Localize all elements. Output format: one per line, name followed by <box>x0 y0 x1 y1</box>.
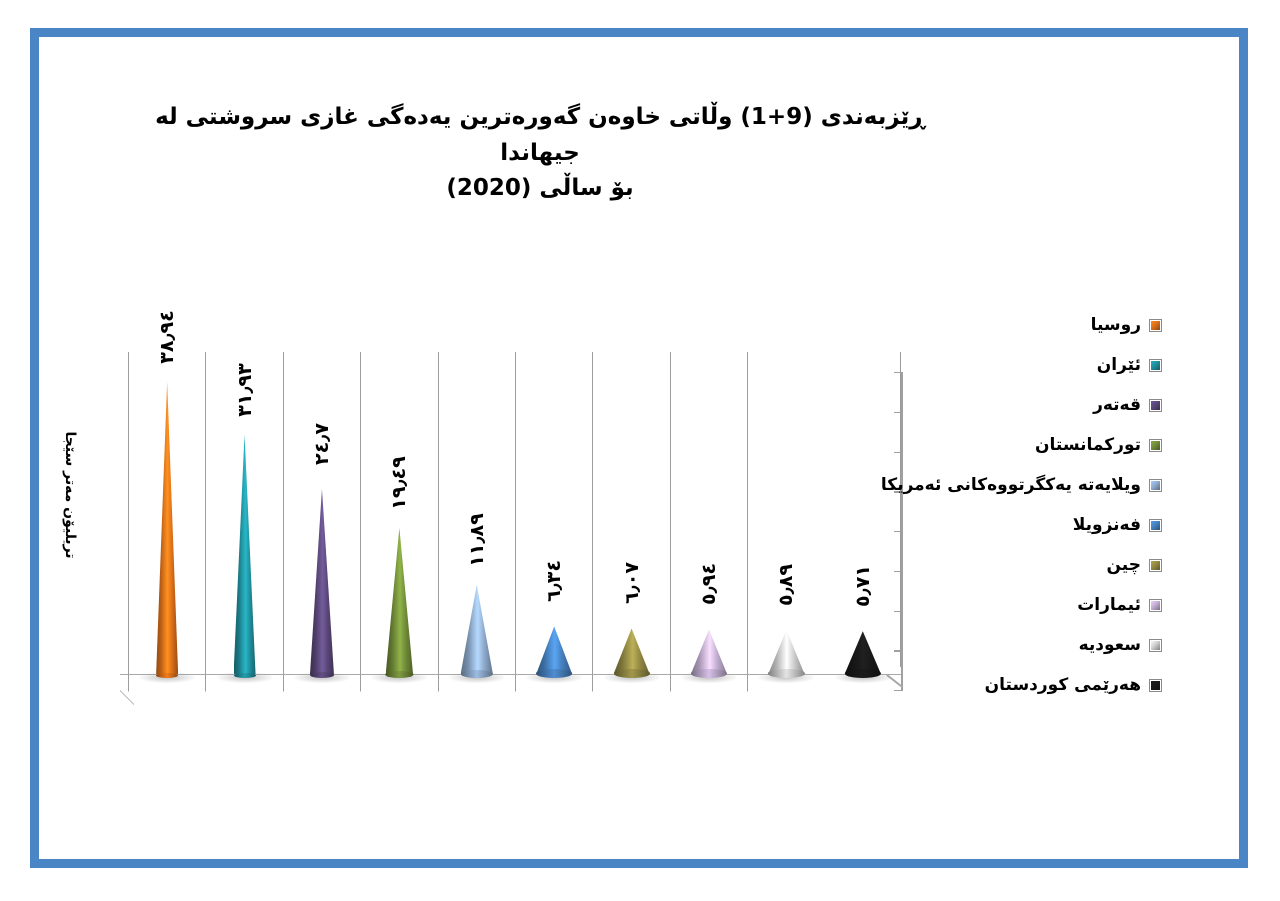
data-value-label: ٦٫٣٤ <box>543 561 565 603</box>
cone-bar[interactable]: ٥٫٩٤ <box>682 629 736 674</box>
cone-body <box>310 489 334 674</box>
cone-bar[interactable]: ١٩٫٤٩ <box>372 528 426 674</box>
series-cell[interactable]: ٥٫٩٤ <box>670 352 747 674</box>
legend-color-swatch-icon <box>1149 359 1162 372</box>
legend-color-swatch-icon <box>1149 319 1162 332</box>
cone-body <box>156 382 178 674</box>
cone-bar[interactable]: ٦٫٣٤ <box>527 626 581 674</box>
cone-bar[interactable]: ١١٫٨٩ <box>450 585 504 674</box>
cone-body <box>536 626 572 674</box>
cone-bar[interactable]: ٦٫٠٧ <box>605 628 659 674</box>
chart-legend: روسیائێرانقەتەرتورکمانستانویلایەتە یەکگر… <box>912 305 1162 705</box>
legend-item[interactable]: هەرێمی کوردستان <box>912 665 1162 705</box>
legend-item-label: فەنزویلا <box>1073 517 1141 534</box>
series-cells: ٥٫٧١٥٫٨٩٥٫٩٤٦٫٠٧٦٫٣٤١١٫٨٩١٩٫٤٩٢٤٫٧٣١٫٩٣٣… <box>128 352 901 674</box>
legend-item[interactable]: تورکمانستان <box>912 425 1162 465</box>
series-cell[interactable]: ١١٫٨٩ <box>438 352 515 674</box>
legend-color-swatch-icon <box>1149 639 1162 652</box>
cone-body <box>234 435 256 674</box>
legend-item[interactable]: ئیمارات <box>912 585 1162 625</box>
legend-color-swatch-icon <box>1149 479 1162 492</box>
cone-shape <box>234 435 256 674</box>
cone-shape <box>536 626 572 674</box>
legend-color-swatch-icon <box>1149 439 1162 452</box>
data-value-label: ٣٨٫٩٤ <box>156 310 178 363</box>
data-value-label: ٥٫٨٩ <box>775 564 797 606</box>
cone-base-ellipse <box>614 669 650 678</box>
data-value-label: ٣١٫٩٣ <box>234 363 256 416</box>
legend-item[interactable]: چین <box>912 545 1162 585</box>
data-value-label: ٦٫٠٧ <box>621 563 643 605</box>
cone-base-ellipse <box>536 669 572 678</box>
cone-base-ellipse <box>768 669 804 678</box>
cone-body <box>614 628 650 674</box>
series-cell[interactable]: ٥٫٧١ <box>825 352 901 674</box>
y-axis-line <box>901 372 903 690</box>
legend-item-label: روسیا <box>1091 317 1141 334</box>
legend-item[interactable]: سعودیه <box>912 625 1162 665</box>
series-cell[interactable]: ٦٫٣٤ <box>515 352 592 674</box>
legend-item-label: سعودیه <box>1079 637 1141 654</box>
series-cell[interactable]: ٥٫٨٩ <box>747 352 824 674</box>
legend-item-label: هەرێمی کوردستان <box>985 677 1141 694</box>
cone-shape <box>691 629 727 674</box>
cone-shape <box>386 528 413 674</box>
chart-title-line-1: ڕێزبەندی (9+1) وڵاتی خاوەن گەورەترین یەد… <box>150 100 930 171</box>
data-value-label: ٥٫٩٤ <box>698 564 720 606</box>
cone-base-ellipse <box>845 669 881 678</box>
series-cell[interactable]: ٣٨٫٩٤ <box>128 352 205 674</box>
cone-base-ellipse <box>386 671 413 678</box>
series-cell[interactable]: ٣١٫٩٣ <box>205 352 282 674</box>
legend-item-label: ئێران <box>1097 357 1141 374</box>
series-cell[interactable]: ٢٤٫٧ <box>283 352 360 674</box>
cone-shape <box>156 382 178 674</box>
chart-title-line-2: بۆ ساڵی (2020) <box>150 171 930 207</box>
legend-item-label: ئیمارات <box>1077 597 1141 614</box>
data-value-label: ٢٤٫٧ <box>311 423 333 465</box>
legend-color-swatch-icon <box>1149 559 1162 572</box>
data-value-label: ٥٫٧١ <box>852 565 874 607</box>
series-cell[interactable]: ٦٫٠٧ <box>592 352 669 674</box>
legend-color-swatch-icon <box>1149 599 1162 612</box>
y-axis-title: تریلیۆن مەتر سێجا <box>62 395 78 595</box>
legend-item[interactable]: ویلایەتە یەکگرتووەکانی ئەمریکا <box>912 465 1162 505</box>
legend-item-label: چین <box>1107 557 1142 574</box>
cone-body <box>845 631 881 674</box>
cone-body <box>691 629 727 674</box>
cone-base-ellipse <box>691 669 727 678</box>
legend-item[interactable]: فەنزویلا <box>912 505 1162 545</box>
legend-item[interactable]: روسیا <box>912 305 1162 345</box>
data-value-label: ١١٫٨٩ <box>466 513 488 566</box>
cone-shape <box>845 631 881 674</box>
chart-page: ڕێزبەندی (9+1) وڵاتی خاوەن گەورەترین یەد… <box>0 0 1280 901</box>
legend-item[interactable]: قەتەر <box>912 385 1162 425</box>
cone-bar[interactable]: ٣٨٫٩٤ <box>140 382 194 674</box>
series-cell[interactable]: ١٩٫٤٩ <box>360 352 437 674</box>
data-value-label: ١٩٫٤٩ <box>388 456 410 509</box>
cone-shape <box>614 628 650 674</box>
legend-color-swatch-icon <box>1149 679 1162 692</box>
cone-base-ellipse <box>461 670 493 678</box>
cone-bar[interactable]: ٣١٫٩٣ <box>218 435 272 674</box>
cone-body <box>461 585 493 674</box>
legend-color-swatch-icon <box>1149 399 1162 412</box>
cone-bar[interactable]: ٥٫٨٩ <box>759 630 813 674</box>
plot-area: ٥٫٧١٥٫٨٩٥٫٩٤٦٫٠٧٦٫٣٤١١٫٨٩١٩٫٤٩٢٤٫٧٣١٫٩٣٣… <box>120 352 910 697</box>
legend-color-swatch-icon <box>1149 519 1162 532</box>
cone-bar[interactable]: ٢٤٫٧ <box>295 489 349 674</box>
y-axis-tick <box>894 690 903 691</box>
cone-body <box>768 630 804 674</box>
cone-shape <box>310 489 334 674</box>
cone-shape <box>768 630 804 674</box>
legend-item-label: قەتەر <box>1093 397 1141 414</box>
chart-title: ڕێزبەندی (9+1) وڵاتی خاوەن گەورەترین یەد… <box>150 100 930 207</box>
cone-bar[interactable]: ٥٫٧١ <box>836 631 890 674</box>
legend-item-label: ویلایەتە یەکگرتووەکانی ئەمریکا <box>881 477 1141 494</box>
cone-base-ellipse <box>310 672 334 678</box>
legend-item-label: تورکمانستان <box>1035 437 1141 454</box>
cone-body <box>386 528 413 674</box>
cone-shape <box>461 585 493 674</box>
legend-item[interactable]: ئێران <box>912 345 1162 385</box>
